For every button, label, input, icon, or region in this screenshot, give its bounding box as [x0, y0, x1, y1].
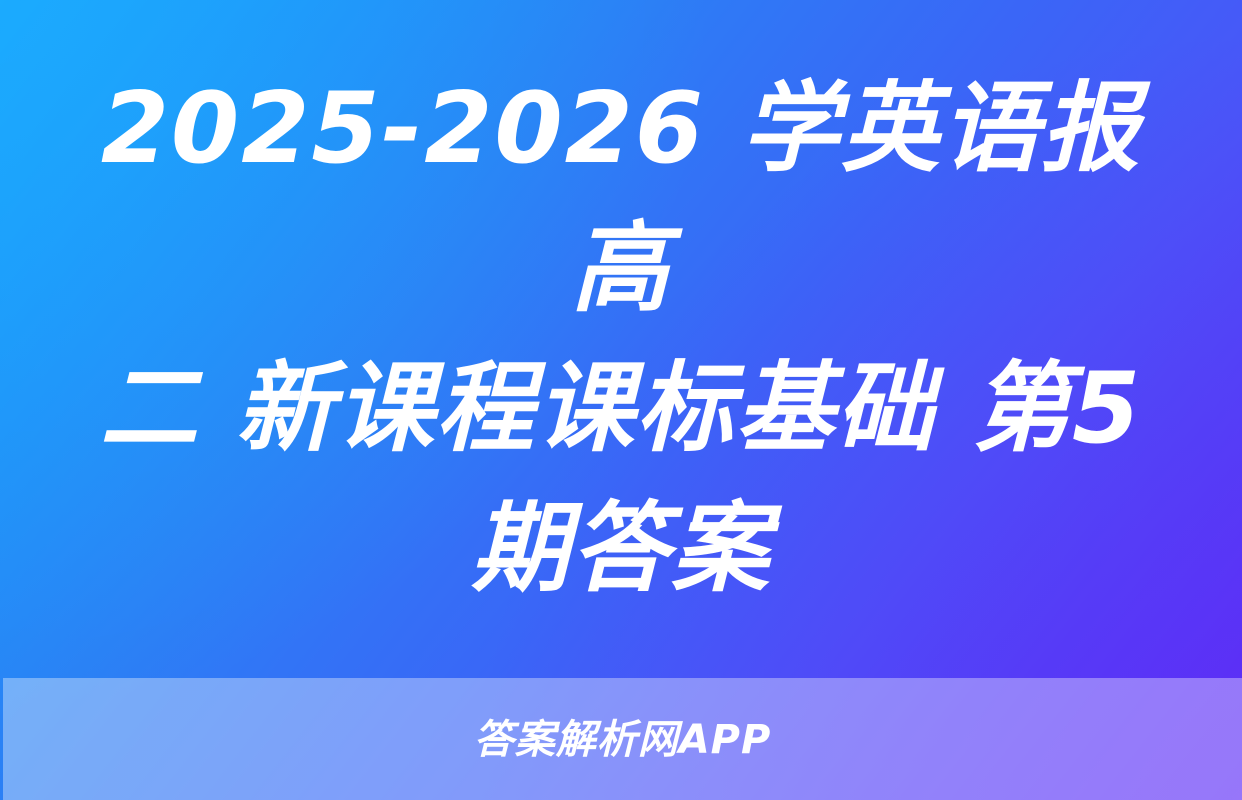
headline-area: 2025-2026 学英语报 高 二 新课程课标基础 第5 期答案	[0, 0, 1242, 678]
headline-line-2: 二 新课程课标基础 第5	[100, 352, 1142, 466]
app-watermark-label: 答案解析网APP	[474, 720, 772, 760]
page-title: 2025-2026 学英语报 高 二 新课程课标基础 第5 期答案	[46, 59, 1196, 619]
share-card: 2025-2026 学英语报 高 二 新课程课标基础 第5 期答案 答案解析网A…	[0, 0, 1242, 800]
headline-line-1: 2025-2026 学英语报 高	[101, 72, 1141, 326]
watermark-band: 答案解析网APP	[3, 678, 1242, 800]
headline-line-3: 期答案	[471, 492, 771, 606]
